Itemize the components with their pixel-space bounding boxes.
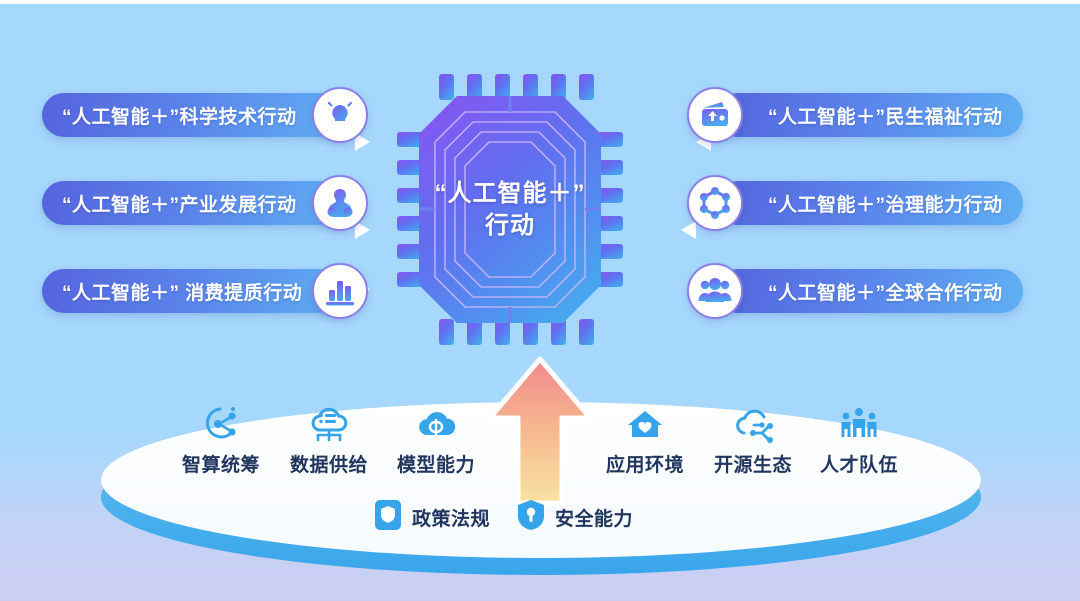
policy-shield-icon <box>373 498 403 537</box>
action-label-science-tech: “人工智能＋”科学技术行动 <box>62 102 297 129</box>
center-chip-label: “人工智能＋” 行动 <box>395 72 625 347</box>
action-pill-welfare[interactable]: “人工智能＋”民生福祉行动 <box>716 93 1023 137</box>
action-label-consumption: “人工智能＋” 消费提质行动 <box>62 278 302 305</box>
center-chip-line1: “人工智能＋” <box>435 178 586 210</box>
open-source-cloud-icon <box>730 401 776 445</box>
wallet-icon <box>687 87 743 143</box>
action-label-global-coop: “人工智能＋”全球合作行动 <box>768 278 1003 305</box>
center-chip-line2: 行动 <box>485 210 535 242</box>
badge-tail-governance <box>681 221 696 239</box>
action-pill-consumption[interactable]: “人工智能＋” 消费提质行动 <box>42 269 354 313</box>
foundation-label-data: 数据供给 <box>290 450 368 477</box>
action-pill-global-coop[interactable]: “人工智能＋”全球合作行动 <box>716 269 1023 313</box>
talent-people-icon <box>836 401 882 445</box>
foundation-item-talent[interactable]: 人才队伍 <box>804 401 914 477</box>
foundation-item-data[interactable]: 数据供给 <box>274 401 384 477</box>
foundation-item-policy[interactable]: 政策法规 <box>373 498 490 537</box>
action-label-governance: “人工智能＋”治理能力行动 <box>768 190 1003 217</box>
foundation-label-policy: 政策法规 <box>412 504 490 531</box>
bar-chart-icon <box>312 263 368 319</box>
model-cloud-brain-icon <box>414 401 458 445</box>
data-cloud-icon <box>307 401 351 445</box>
foundation-item-security[interactable]: 安全能力 <box>516 498 633 537</box>
network-nodes-icon <box>687 175 743 231</box>
foundation-label-compute: 智算统筹 <box>182 450 260 477</box>
foundation-label-security: 安全能力 <box>555 504 633 531</box>
infographic-canvas: “人工智能＋” 行动 “人工智能＋”科学技术行动 “人工智能＋”产业发展行动 <box>0 0 1080 601</box>
center-chip: “人工智能＋” 行动 <box>395 72 625 347</box>
action-pill-governance[interactable]: “人工智能＋”治理能力行动 <box>716 181 1023 225</box>
foundation-item-compute[interactable]: 智算统筹 <box>166 401 276 477</box>
home-heart-icon <box>623 401 667 445</box>
foundation-label-opensource: 开源生态 <box>714 450 792 477</box>
action-label-welfare: “人工智能＋”民生福祉行动 <box>768 102 1003 129</box>
foundation-label-application: 应用环境 <box>606 450 684 477</box>
action-label-industry: “人工智能＋”产业发展行动 <box>62 190 297 217</box>
people-group-icon <box>687 263 743 319</box>
action-pill-industry[interactable]: “人工智能＋”产业发展行动 <box>42 181 349 225</box>
foundation-item-model[interactable]: 模型能力 <box>381 401 491 477</box>
compute-share-icon <box>200 401 242 445</box>
action-pill-science-tech[interactable]: “人工智能＋”科学技术行动 <box>42 93 349 137</box>
foundation-item-opensource[interactable]: 开源生态 <box>698 401 808 477</box>
foundation-items: 智算统筹 <box>96 385 986 585</box>
factory-gear-icon <box>312 175 368 231</box>
foundation-item-application[interactable]: 应用环境 <box>590 401 700 477</box>
foundation-label-model: 模型能力 <box>397 450 475 477</box>
lightbulb-icon <box>312 87 368 143</box>
security-shield-key-icon <box>516 498 546 537</box>
foundation-label-talent: 人才队伍 <box>820 450 898 477</box>
